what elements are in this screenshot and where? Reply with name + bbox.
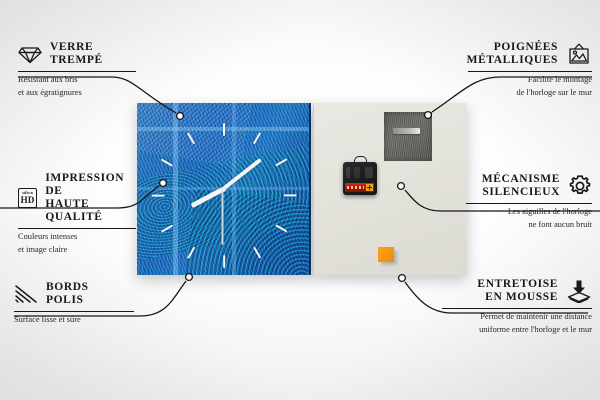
metal-hanger-plate: [384, 112, 432, 161]
callout-title: MÉCANISME: [482, 173, 560, 186]
callout-title: TREMPÉ: [50, 54, 103, 67]
callout-title: POLIS: [46, 294, 89, 307]
callout-title: SILENCIEUX: [482, 186, 560, 199]
callout-subtitle: Couleurs intenses: [18, 232, 136, 242]
battery-label-stripe: [347, 186, 364, 189]
callout-subtitle: de l'horloge sur le mur: [468, 88, 592, 98]
callout-divider: [14, 311, 134, 312]
callout-divider: [442, 308, 592, 309]
callout-divider: [18, 71, 136, 72]
mechanism-surface-detail: [346, 167, 373, 178]
battery: [345, 183, 374, 192]
callout-subtitle: Résistant aux bris: [18, 75, 136, 85]
callout-polished-edges: BORDS POLIS Surface lisse et sûre: [14, 281, 134, 325]
callout-subtitle: ne font aucun bruit: [466, 220, 592, 230]
callout-subtitle: Permet de maintenir une distance: [442, 312, 592, 322]
callout-title: MÉTALLIQUES: [467, 54, 558, 67]
hour-marker: [152, 194, 165, 196]
hanging-frame-icon: [566, 43, 592, 65]
callout-foam-spacer: ENTRETOISE EN MOUSSE Permet de maintenir…: [442, 278, 592, 335]
diamond-icon: [18, 45, 42, 64]
foam-spacer: [378, 247, 394, 262]
battery-positive-terminal: [366, 184, 373, 191]
product-infographic: VERRE TREMPÉ Résistant aux bris et aux é…: [0, 0, 600, 400]
callout-title: BORDS: [46, 281, 89, 294]
callout-print-quality: ultra HD IMPRESSION DE HAUTE QUALITÉ Cou…: [18, 172, 136, 255]
clock-front-face: [137, 103, 311, 275]
callout-metal-handles: POIGNÉES MÉTALLIQUES Facilite le montage…: [468, 41, 592, 98]
product-image: [137, 103, 467, 275]
clock-center-cap: [221, 187, 226, 192]
hour-marker: [223, 255, 225, 268]
callout-subtitle: Les aiguilles de l'horloge: [466, 207, 592, 217]
callout-divider: [466, 203, 592, 204]
callout-subtitle: et aux égratignures: [18, 88, 136, 98]
hanger-keyhole-slot: [393, 128, 420, 134]
polished-edge-icon: [14, 284, 38, 304]
callout-subtitle: uniforme entre l'horloge et le mur: [442, 325, 592, 335]
callout-title: HAUTE QUALITÉ: [45, 198, 136, 224]
callout-title: VERRE: [50, 41, 103, 54]
callout-subtitle: Facilite le montage: [468, 75, 592, 85]
callout-title: POIGNÉES: [467, 41, 558, 54]
mechanism-hanging-loop: [354, 156, 367, 164]
clock-back-panel: [313, 103, 467, 275]
callout-subtitle: Surface lisse et sûre: [14, 315, 134, 325]
callout-tempered-glass: VERRE TREMPÉ Résistant aux bris et aux é…: [18, 41, 136, 98]
callout-divider: [468, 71, 592, 72]
callout-silent-mechanism: MÉCANISME SILENCIEUX Les aiguilles de l'…: [466, 173, 592, 230]
ultra-hd-icon-big-label: HD: [21, 196, 35, 205]
hour-marker: [223, 123, 225, 136]
leader-dot-foam-spacer: [399, 275, 406, 282]
press-down-pad-icon: [566, 279, 592, 303]
callout-divider: [18, 228, 136, 229]
callout-subtitle: et image claire: [18, 245, 136, 255]
callout-title: EN MOUSSE: [477, 291, 558, 304]
callout-title: IMPRESSION DE: [45, 172, 136, 198]
ultra-hd-icon: ultra HD: [18, 188, 37, 208]
hour-marker: [284, 194, 297, 196]
clock-mechanism: [343, 162, 377, 195]
callout-title: ENTRETOISE: [477, 278, 558, 291]
gear-icon: [568, 174, 592, 198]
